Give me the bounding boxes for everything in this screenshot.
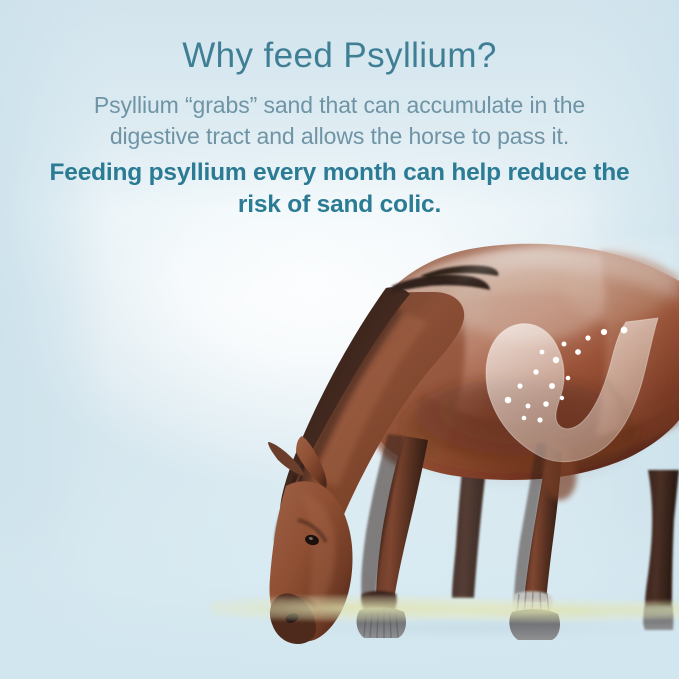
intro-line-1: Psyllium “grabs” sand that can accumulat…: [0, 90, 679, 120]
emphasis-line-1: Feeding psyllium every month can help re…: [0, 157, 679, 189]
ground-sand: [210, 593, 679, 627]
promo-panel: Why feed Psyllium? Psyllium “grabs” sand…: [0, 0, 679, 679]
emphasis-line-2: risk of sand colic.: [0, 189, 679, 221]
page-title: Why feed Psyllium?: [0, 0, 679, 76]
emphasis-paragraph: Feeding psyllium every month can help re…: [0, 151, 679, 221]
text-block: Why feed Psyllium? Psyllium “grabs” sand…: [0, 0, 679, 221]
intro-paragraph: Psyllium “grabs” sand that can accumulat…: [0, 76, 679, 151]
intro-line-2: digestive tract and allows the horse to …: [0, 121, 679, 151]
